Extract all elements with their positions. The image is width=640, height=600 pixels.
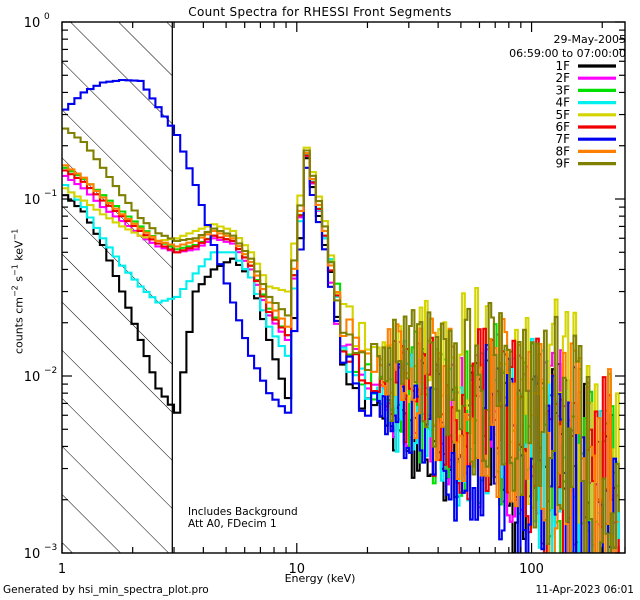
y-tick-label: 10−2 bbox=[24, 366, 58, 385]
y-axis-label: counts cm−2 s−1 keV−1 bbox=[11, 181, 26, 401]
y-tick-label: 100 bbox=[24, 12, 50, 31]
observation-time-range: 06:59:00 to 07:00:00 bbox=[509, 47, 626, 60]
attenuator-note: Att A0, FDecim 1 bbox=[188, 518, 277, 530]
background-note: Includes Background bbox=[188, 506, 298, 518]
svg-text:−1: −1 bbox=[44, 189, 57, 199]
svg-text:0: 0 bbox=[44, 12, 50, 22]
y-tick-label: 10−3 bbox=[24, 543, 58, 562]
svg-text:−3: −3 bbox=[44, 543, 57, 553]
legend-label-9F: 9F bbox=[555, 157, 570, 171]
svg-text:−2: −2 bbox=[44, 366, 57, 376]
generation-timestamp: 11-Apr-2023 06:01 bbox=[535, 584, 634, 596]
plot-window: Count Spectra for RHESSI Front Segments … bbox=[0, 0, 640, 600]
svg-text:10: 10 bbox=[24, 370, 41, 385]
y-tick-label: 10−1 bbox=[24, 189, 58, 208]
svg-text:10: 10 bbox=[24, 547, 41, 562]
legend: 1F2F3F4F5F6F7F8F9F bbox=[555, 59, 616, 171]
spectrum-chart: 11010010010−110−210−3 1F2F3F4F5F6F7F8F9F bbox=[0, 0, 640, 600]
svg-text:10: 10 bbox=[24, 16, 41, 31]
generator-credit: Generated by hsi_min_spectra_plot.pro bbox=[3, 584, 209, 596]
svg-text:10: 10 bbox=[24, 193, 41, 208]
observation-date: 29-May-2005 bbox=[554, 33, 626, 46]
